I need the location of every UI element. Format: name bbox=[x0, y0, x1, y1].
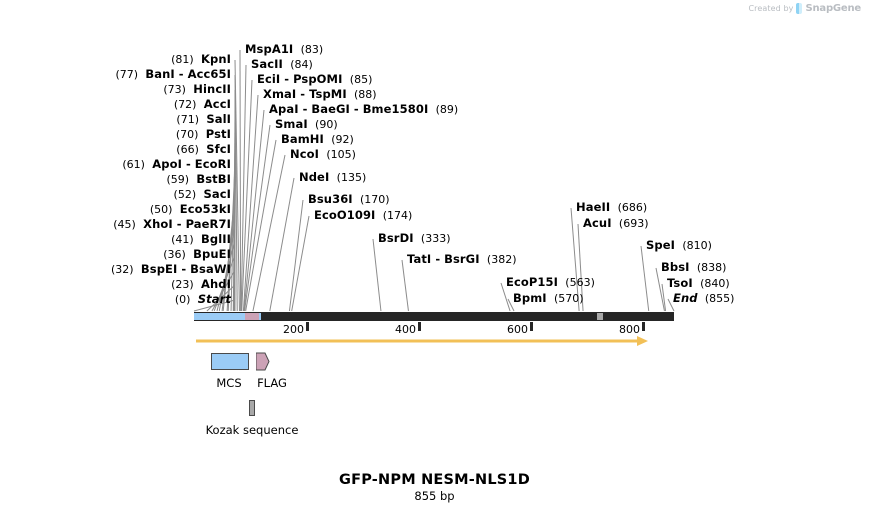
site-position: (41) bbox=[171, 233, 194, 246]
enzyme-name: ApoI bbox=[152, 157, 182, 171]
watermark-brand-label: SnapGene bbox=[805, 3, 861, 14]
restriction-site-label-apoi-ecori[interactable]: (61) ApoI - EcoRI bbox=[122, 159, 231, 171]
site-position: (85) bbox=[350, 73, 373, 86]
site-position: (0) bbox=[175, 293, 191, 306]
site-position: (382) bbox=[487, 253, 517, 266]
restriction-site-label-xmai-tspmi[interactable]: XmaI - TspMI (88) bbox=[263, 89, 377, 101]
site-position: (135) bbox=[337, 171, 367, 184]
site-position: (36) bbox=[163, 248, 186, 261]
site-position: (52) bbox=[174, 188, 197, 201]
restriction-site-label-ahdi[interactable]: (23) AhdI bbox=[171, 279, 231, 291]
restriction-site-label-eco53ki[interactable]: (50) Eco53kI bbox=[150, 204, 231, 216]
restriction-site-label-tsoi[interactable]: TsoI (840) bbox=[667, 278, 730, 290]
enzyme-name: AhdI bbox=[201, 277, 231, 291]
enzyme-name: EcoO109I bbox=[314, 208, 375, 222]
restriction-site-label-bbsi[interactable]: BbsI (838) bbox=[661, 262, 726, 274]
site-enzyme-names: BspEI - BsaWI bbox=[141, 262, 231, 276]
site-position: (23) bbox=[171, 278, 194, 291]
site-enzyme-names: BglII bbox=[201, 232, 231, 246]
site-enzyme-names: AhdI bbox=[201, 277, 231, 291]
name-separator: - bbox=[296, 87, 309, 101]
restriction-site-label-sali[interactable]: (71) SalI bbox=[176, 114, 231, 126]
site-enzyme-names: SacI bbox=[203, 187, 231, 201]
site-position: (90) bbox=[315, 118, 338, 131]
site-position: (61) bbox=[122, 158, 145, 171]
site-position: (693) bbox=[619, 217, 649, 230]
site-position: (77) bbox=[115, 68, 138, 81]
enzyme-name: BbsI bbox=[661, 260, 690, 274]
enzyme-name: EcoP15I bbox=[506, 275, 558, 289]
restriction-site-label-bpuei[interactable]: (36) BpuEI bbox=[163, 249, 231, 261]
enzyme-name: End bbox=[673, 291, 698, 305]
snapgene-logo-icon bbox=[796, 3, 802, 14]
site-position: (174) bbox=[383, 209, 413, 222]
site-position: (333) bbox=[421, 232, 451, 245]
enzyme-name: XhoI bbox=[143, 217, 173, 231]
site-leader-line bbox=[253, 155, 285, 311]
name-separator: - bbox=[173, 217, 186, 231]
site-enzyme-names: AcuI bbox=[583, 216, 612, 230]
name-separator: - bbox=[350, 102, 363, 116]
restriction-site-label-psti[interactable]: (70) PstI bbox=[176, 129, 231, 141]
site-enzyme-names: End bbox=[673, 291, 698, 305]
site-position: (170) bbox=[360, 193, 390, 206]
restriction-site-label-bpmi[interactable]: BpmI (570) bbox=[513, 293, 584, 305]
site-enzyme-names: MspA1I bbox=[245, 42, 293, 56]
bar-feature-kozak-sequence[interactable] bbox=[597, 313, 603, 320]
site-enzyme-names: Eco53kI bbox=[180, 202, 231, 216]
enzyme-name: SmaI bbox=[275, 117, 308, 131]
site-position: (83) bbox=[301, 43, 324, 56]
enzyme-name: Start bbox=[198, 292, 231, 306]
site-enzyme-names: BanI - Acc65I bbox=[145, 67, 231, 81]
enzyme-name: BsaWI bbox=[190, 262, 231, 276]
restriction-site-label-bsrdi[interactable]: BsrDI (333) bbox=[378, 233, 451, 245]
restriction-site-label-hincii[interactable]: (73) HincII bbox=[163, 84, 231, 96]
site-leader-line bbox=[244, 110, 264, 311]
site-position: (89) bbox=[436, 103, 459, 116]
enzyme-name: NcoI bbox=[290, 147, 319, 161]
restriction-site-label-ecop15i[interactable]: EcoP15I (563) bbox=[506, 277, 595, 289]
site-leader-line bbox=[662, 284, 666, 311]
site-enzyme-names: EcoP15I bbox=[506, 275, 558, 289]
site-position: (570) bbox=[554, 292, 584, 305]
restriction-site-label-acui[interactable]: AcuI (693) bbox=[583, 218, 649, 230]
ruler-tick-600 bbox=[530, 322, 533, 331]
restriction-site-label-bstbi[interactable]: (59) BstBI bbox=[166, 174, 231, 186]
site-leader-line bbox=[245, 125, 270, 311]
site-enzyme-names: Start bbox=[198, 292, 231, 306]
enzyme-name: SacI bbox=[203, 187, 231, 201]
restriction-site-label-sfci[interactable]: (66) SfcI bbox=[176, 144, 231, 156]
enzyme-name: HincII bbox=[193, 82, 231, 96]
enzyme-name: ApaI bbox=[269, 102, 299, 116]
orf-arrow-head[interactable] bbox=[637, 336, 648, 346]
ruler-label-200: 200 bbox=[283, 323, 304, 336]
enzyme-name: TatI bbox=[407, 252, 431, 266]
site-position: (59) bbox=[166, 173, 189, 186]
enzyme-name: BpuEI bbox=[193, 247, 231, 261]
snapgene-map-canvas: Created by SnapGene (81) KpnI(77) BanI -… bbox=[0, 0, 869, 511]
site-leader-line bbox=[235, 75, 237, 311]
site-enzyme-names: KpnI bbox=[201, 52, 231, 66]
restriction-site-label-sacii[interactable]: SacII (84) bbox=[251, 59, 313, 71]
name-separator: - bbox=[177, 262, 190, 276]
site-enzyme-names: ApoI - EcoRI bbox=[152, 157, 231, 171]
name-separator: - bbox=[182, 157, 195, 171]
site-enzyme-names: BsrDI bbox=[378, 231, 414, 245]
enzyme-name: SpeI bbox=[646, 238, 675, 252]
name-separator: - bbox=[280, 72, 293, 86]
site-position: (563) bbox=[565, 276, 595, 289]
enzyme-name: BpmI bbox=[513, 291, 547, 305]
site-enzyme-names: BpuEI bbox=[193, 247, 231, 261]
restriction-site-label-ecoo109i[interactable]: EcoO109I (174) bbox=[314, 210, 412, 222]
site-position: (71) bbox=[176, 113, 199, 126]
site-leader-line bbox=[241, 65, 246, 311]
site-position: (810) bbox=[682, 239, 712, 252]
site-enzyme-names: TsoI bbox=[667, 276, 693, 290]
site-leader-line bbox=[240, 50, 241, 311]
enzyme-name: TspMI bbox=[309, 87, 347, 101]
restriction-site-label-smai[interactable]: SmaI (90) bbox=[275, 119, 338, 131]
site-leader-line bbox=[235, 60, 239, 311]
site-position: (88) bbox=[354, 88, 377, 101]
restriction-site-label-bglii[interactable]: (41) BglII bbox=[171, 234, 231, 246]
site-enzyme-names: EcoO109I bbox=[314, 208, 375, 222]
name-separator: - bbox=[299, 102, 312, 116]
site-enzyme-names: XhoI - PaeR7I bbox=[143, 217, 231, 231]
enzyme-name: HaeII bbox=[576, 200, 610, 214]
site-enzyme-names: AccI bbox=[204, 97, 231, 111]
ruler-tick-800 bbox=[642, 322, 645, 331]
enzyme-name: KpnI bbox=[201, 52, 231, 66]
enzyme-name: BstBI bbox=[196, 172, 231, 186]
enzyme-name: BamHI bbox=[281, 132, 324, 146]
site-enzyme-names: BbsI bbox=[661, 260, 690, 274]
enzyme-name: BanI bbox=[145, 67, 174, 81]
enzyme-name: Bsu36I bbox=[308, 192, 353, 206]
site-enzyme-names: HaeII bbox=[576, 200, 610, 214]
bar-feature-flag[interactable] bbox=[245, 313, 259, 320]
site-enzyme-names: EciI - PspOMI bbox=[257, 72, 342, 86]
restriction-site-label-xhoi-paer7i[interactable]: (45) XhoI - PaeR7I bbox=[113, 219, 231, 231]
legend-caption-kozak-sequence: Kozak sequence bbox=[206, 423, 299, 437]
site-leader-line bbox=[234, 105, 235, 311]
enzyme-name: PaeR7I bbox=[186, 217, 231, 231]
site-position: (92) bbox=[331, 133, 354, 146]
site-enzyme-names: XmaI - TspMI bbox=[263, 87, 347, 101]
enzyme-name: XmaI bbox=[263, 87, 296, 101]
restriction-site-label-bspei-bsawi[interactable]: (32) BspEI - BsaWI bbox=[111, 264, 231, 276]
ruler-label-400: 400 bbox=[395, 323, 416, 336]
site-enzyme-names: SalI bbox=[206, 112, 231, 126]
enzyme-name: SacII bbox=[251, 57, 283, 71]
enzyme-name: EcoRI bbox=[195, 157, 231, 171]
legend-swatch-kozak-sequence bbox=[249, 400, 255, 416]
restriction-site-label-ndei[interactable]: NdeI (135) bbox=[299, 172, 366, 184]
site-enzyme-names: TatI - BsrGI bbox=[407, 252, 480, 266]
site-enzyme-names: SacII bbox=[251, 57, 283, 71]
map-length-label: 855 bp bbox=[0, 489, 869, 503]
site-enzyme-names: BpmI bbox=[513, 291, 547, 305]
enzyme-name: SfcI bbox=[206, 142, 231, 156]
restriction-site-label-acci[interactable]: (72) AccI bbox=[174, 99, 231, 111]
name-separator: - bbox=[175, 67, 188, 81]
site-enzyme-names: SfcI bbox=[206, 142, 231, 156]
enzyme-name: EciI bbox=[257, 72, 280, 86]
enzyme-name: AccI bbox=[204, 97, 231, 111]
restriction-site-label-haeii[interactable]: HaeII (686) bbox=[576, 202, 647, 214]
site-enzyme-names: BamHI bbox=[281, 132, 324, 146]
restriction-site-label-bsu36i[interactable]: Bsu36I (170) bbox=[308, 194, 390, 206]
site-leader-line bbox=[231, 150, 235, 311]
site-position: (84) bbox=[290, 58, 313, 71]
enzyme-name: SalI bbox=[206, 112, 231, 126]
enzyme-name: BspEI bbox=[141, 262, 177, 276]
site-position: (70) bbox=[176, 128, 199, 141]
enzyme-name: BsrGI bbox=[444, 252, 480, 266]
restriction-site-label-apai-baegi-bme1580i[interactable]: ApaI - BaeGI - Bme1580I (89) bbox=[269, 104, 458, 116]
enzyme-name: Bme1580I bbox=[363, 102, 429, 116]
restriction-site-label-mspa1i[interactable]: MspA1I (83) bbox=[245, 44, 323, 56]
site-enzyme-names: NdeI bbox=[299, 170, 329, 184]
site-position: (45) bbox=[113, 218, 136, 231]
site-position: (50) bbox=[150, 203, 173, 216]
site-leader-line bbox=[242, 80, 252, 311]
restriction-site-label-spei[interactable]: SpeI (810) bbox=[646, 240, 712, 252]
site-position: (32) bbox=[111, 263, 134, 276]
legend-swatch-mcs bbox=[211, 353, 249, 370]
site-enzyme-names: HincII bbox=[193, 82, 231, 96]
watermark-created-by-label: Created by bbox=[748, 4, 793, 13]
site-leader-line bbox=[656, 268, 664, 311]
enzyme-name: BaeGI bbox=[311, 102, 350, 116]
ruler-label-800: 800 bbox=[619, 323, 640, 336]
site-position: (66) bbox=[176, 143, 199, 156]
snapgene-watermark: Created by SnapGene bbox=[748, 3, 861, 14]
enzyme-name: Eco53kI bbox=[180, 202, 231, 216]
site-leader-line bbox=[292, 216, 309, 311]
ruler-label-600: 600 bbox=[507, 323, 528, 336]
site-leader-line bbox=[373, 239, 381, 311]
enzyme-name: TsoI bbox=[667, 276, 693, 290]
restriction-site-label-bamhi[interactable]: BamHI (92) bbox=[281, 134, 354, 146]
enzyme-name: BglII bbox=[201, 232, 231, 246]
enzyme-name: Acc65I bbox=[188, 67, 231, 81]
site-leader-line bbox=[243, 95, 258, 311]
ruler-tick-400 bbox=[418, 322, 421, 331]
enzyme-name: BsrDI bbox=[378, 231, 414, 245]
site-enzyme-names: NcoI bbox=[290, 147, 319, 161]
restriction-site-label-ecii-pspomi[interactable]: EciI - PspOMI (85) bbox=[257, 74, 372, 86]
restriction-site-label-kpni[interactable]: (81) KpnI bbox=[171, 54, 231, 66]
restriction-site-label-bani-acc65i[interactable]: (77) BanI - Acc65I bbox=[115, 69, 231, 81]
site-enzyme-names: BstBI bbox=[196, 172, 231, 186]
site-leader-line bbox=[246, 140, 276, 311]
site-position: (105) bbox=[326, 148, 356, 161]
site-leader-line bbox=[234, 120, 235, 311]
site-position: (73) bbox=[163, 83, 186, 96]
legend-swatch-flag bbox=[256, 351, 273, 374]
site-position: (855) bbox=[705, 292, 735, 305]
site-position: (838) bbox=[697, 261, 727, 274]
enzyme-name: AcuI bbox=[583, 216, 612, 230]
site-leader-line bbox=[641, 246, 649, 311]
legend-caption-flag: FLAG bbox=[257, 376, 287, 390]
site-leader-line bbox=[233, 135, 235, 311]
restriction-site-label-end[interactable]: End (855) bbox=[673, 293, 734, 305]
enzyme-name: PspOMI bbox=[293, 72, 342, 86]
site-enzyme-names: PstI bbox=[206, 127, 231, 141]
enzyme-name: MspA1I bbox=[245, 42, 293, 56]
site-position: (840) bbox=[700, 277, 730, 290]
enzyme-name: PstI bbox=[206, 127, 231, 141]
enzyme-name: NdeI bbox=[299, 170, 329, 184]
site-enzyme-names: Bsu36I bbox=[308, 192, 353, 206]
restriction-site-label-ncoi[interactable]: NcoI (105) bbox=[290, 149, 356, 161]
restriction-site-label-tati-bsrgi[interactable]: TatI - BsrGI (382) bbox=[407, 254, 517, 266]
site-leader-line bbox=[289, 200, 303, 311]
site-enzyme-names: SmaI bbox=[275, 117, 308, 131]
site-enzyme-names: ApaI - BaeGI - Bme1580I bbox=[269, 102, 428, 116]
site-enzyme-names: SpeI bbox=[646, 238, 675, 252]
restriction-site-label-saci[interactable]: (52) SacI bbox=[174, 189, 231, 201]
site-leader-line bbox=[270, 178, 294, 311]
site-position: (686) bbox=[618, 201, 648, 214]
legend-caption-mcs: MCS bbox=[216, 376, 241, 390]
site-position: (72) bbox=[174, 98, 197, 111]
restriction-site-label-start[interactable]: (0) Start bbox=[175, 294, 231, 306]
map-title: GFP-NPM NESM-NLS1D bbox=[0, 472, 869, 488]
site-leader-line bbox=[402, 260, 408, 311]
ruler-tick-200 bbox=[306, 322, 309, 331]
name-separator: - bbox=[431, 252, 444, 266]
site-position: (81) bbox=[171, 53, 194, 66]
